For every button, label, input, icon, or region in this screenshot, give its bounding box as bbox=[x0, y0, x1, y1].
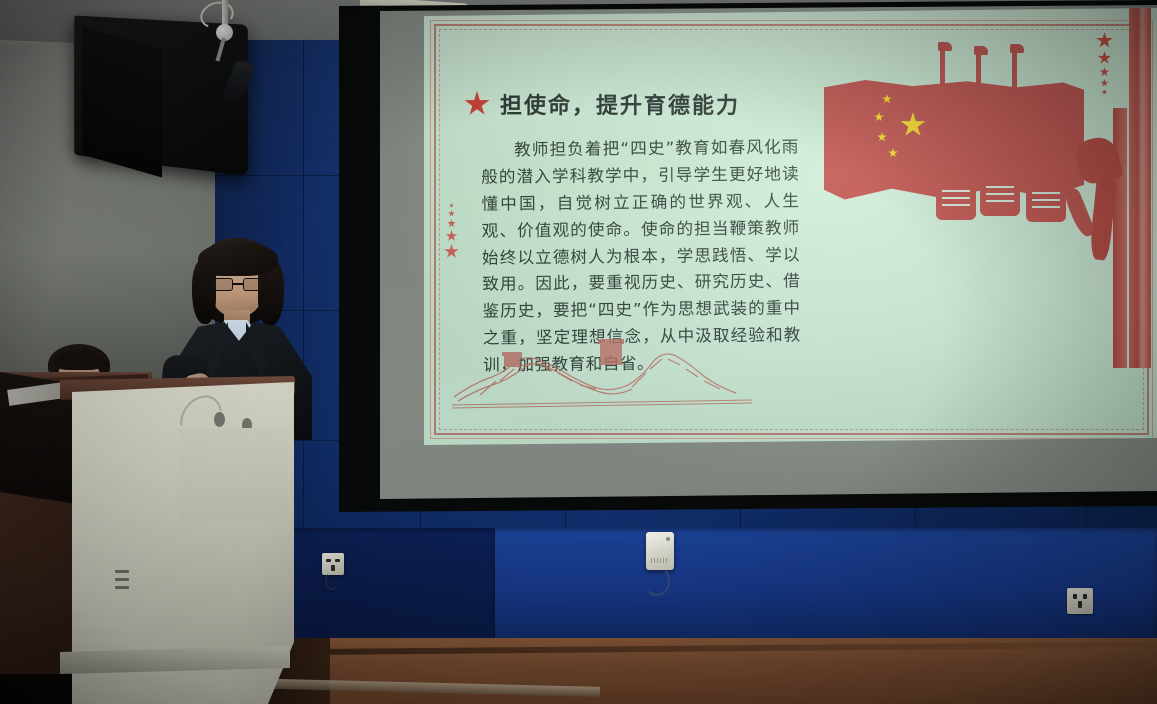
sensor-cable bbox=[644, 566, 670, 596]
chinese-flag-with-fists-icon bbox=[816, 38, 1106, 238]
ribbon-tail bbox=[1088, 171, 1117, 261]
power-outlet-icon bbox=[1067, 588, 1093, 614]
outlet-slot bbox=[331, 565, 335, 571]
flag-staff bbox=[1012, 48, 1017, 92]
slide-content: 担使命，提升育德能力 教师担负着把“四史”教育如春风化雨般的潜入学科教学中，引导… bbox=[424, 8, 1157, 445]
glasses-icon bbox=[212, 278, 264, 291]
raised-fists-icon bbox=[936, 178, 1086, 228]
fist-icon bbox=[980, 174, 1020, 216]
fist-icon bbox=[1026, 180, 1066, 222]
podium-vent-slot bbox=[115, 570, 129, 573]
flag-staff-tip bbox=[1010, 44, 1024, 53]
lecture-hall-photo: 担使命，提升育德能力 教师担负着把“四史”教育如春风化雨般的潜入学科教学中，引导… bbox=[0, 0, 1157, 704]
podium-vent-slot bbox=[115, 578, 129, 581]
wall-seam bbox=[195, 175, 345, 176]
wall-sensor-box-icon bbox=[646, 532, 674, 570]
outlet-slot bbox=[1073, 594, 1077, 599]
glasses-lens-left bbox=[212, 278, 233, 291]
glasses-lens-right bbox=[243, 278, 264, 291]
flag-staff-tip bbox=[974, 46, 988, 55]
sensor-grille bbox=[651, 558, 669, 563]
slide-title: 担使命，提升育德能力 bbox=[500, 88, 740, 120]
fist-icon bbox=[936, 178, 976, 220]
red-pole-icon bbox=[1129, 8, 1151, 368]
five-pointed-star-icon bbox=[449, 203, 454, 208]
five-pointed-star-icon bbox=[444, 244, 459, 259]
red-ribbon-pole-icon bbox=[1071, 138, 1131, 268]
slide-title-row: 担使命，提升育德能力 bbox=[464, 88, 740, 120]
podium-vent-slot bbox=[115, 586, 129, 589]
glasses-bridge bbox=[233, 283, 243, 285]
five-pointed-star-icon bbox=[447, 219, 456, 228]
outlet-slot bbox=[335, 559, 340, 562]
podium-hole bbox=[214, 412, 225, 427]
great-wall-line-art-icon bbox=[452, 337, 752, 411]
presentation-slide: 担使命，提升育德能力 教师担负着把“四史”教育如春风化雨般的潜入学科教学中，引导… bbox=[424, 8, 1157, 445]
outlet-slot bbox=[1083, 594, 1087, 599]
outlet-slot bbox=[1078, 601, 1082, 608]
five-pointed-star-icon bbox=[446, 230, 458, 242]
outlet-slot bbox=[326, 559, 331, 562]
flag-staff-tip bbox=[938, 42, 952, 51]
five-pointed-star-icon bbox=[448, 210, 455, 217]
side-stars-left bbox=[444, 203, 459, 259]
sensor-indicator-led bbox=[666, 537, 670, 541]
speaker-grille bbox=[82, 27, 162, 178]
outlet-cable bbox=[325, 572, 339, 590]
five-pointed-star-icon bbox=[464, 91, 490, 117]
podium-front-panel bbox=[178, 428, 288, 520]
presenter-fringe bbox=[198, 242, 278, 276]
attendee-fringe bbox=[54, 350, 104, 370]
